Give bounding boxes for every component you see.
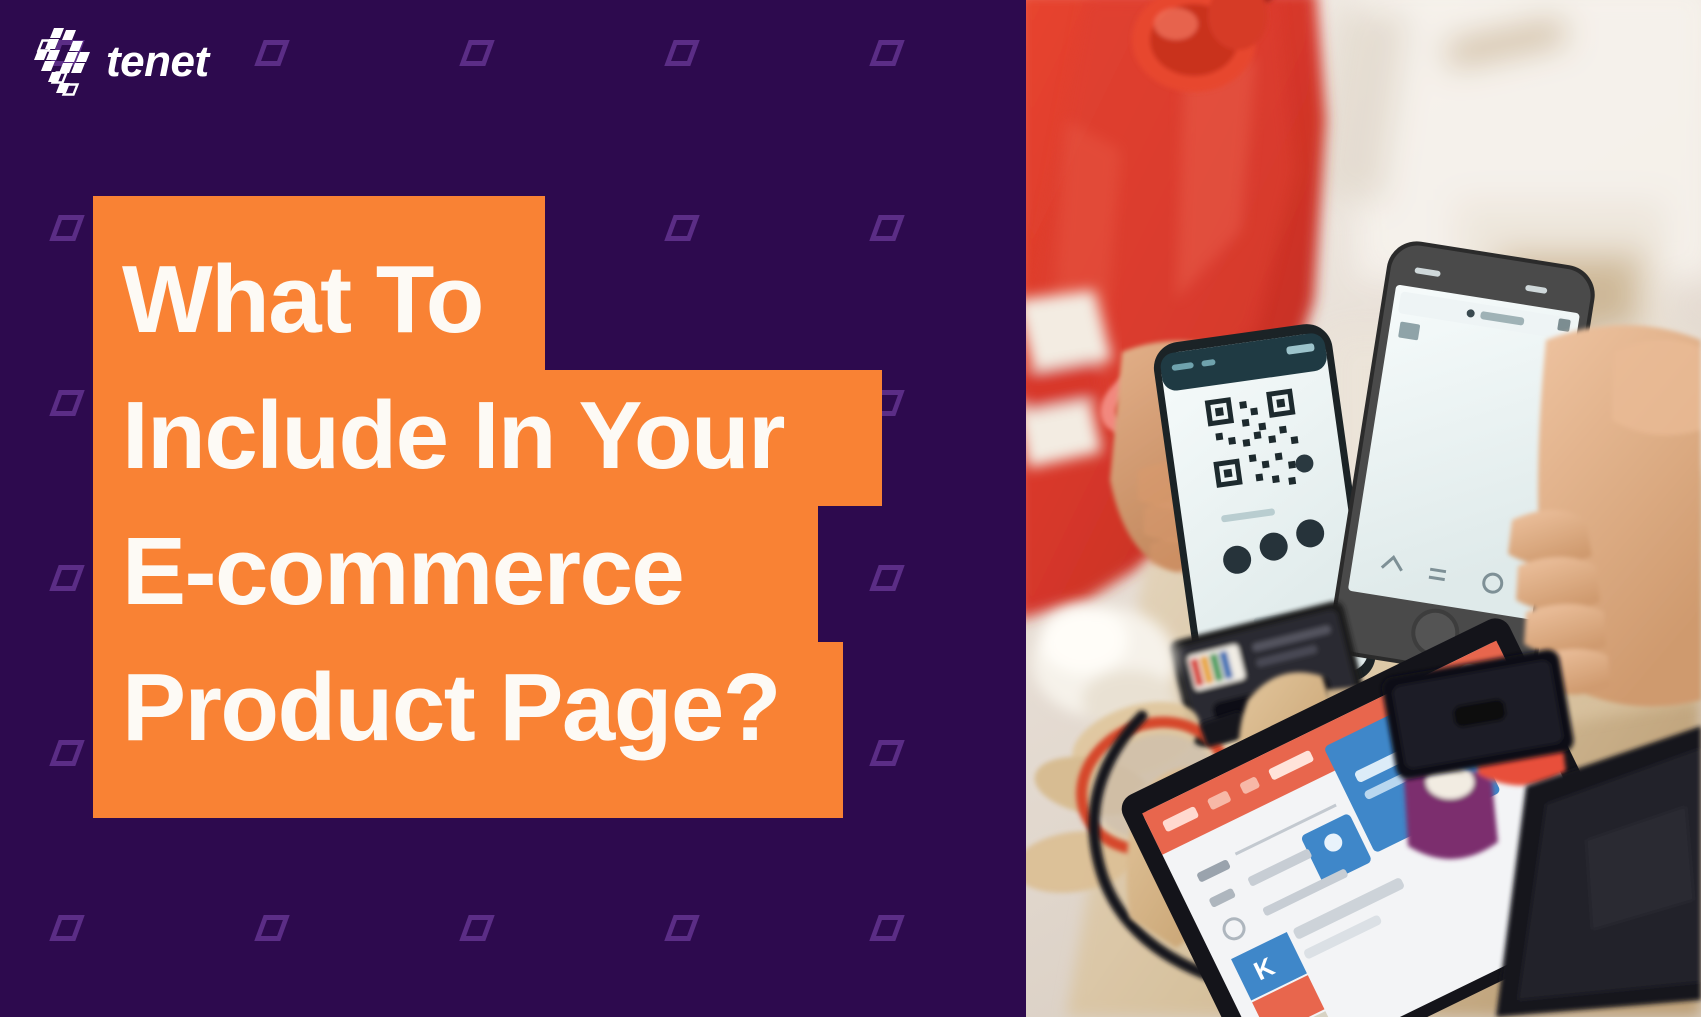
rhombus-outline-icon	[49, 390, 84, 416]
hero-photo: K	[1026, 0, 1701, 1017]
headline-line-2: Include In Your	[93, 370, 882, 506]
headline-line-3: E-commerce	[93, 506, 818, 642]
rhombus-outline-icon	[869, 740, 904, 766]
rhombus-outline-icon	[49, 740, 84, 766]
page-title: What To Include In Your E-commerce Produ…	[93, 196, 853, 818]
rhombus-outline-icon	[664, 40, 699, 66]
rhombus-outline-icon	[49, 915, 84, 941]
rhombus-outline-icon	[49, 565, 84, 591]
rhombus-outline-icon	[869, 215, 904, 241]
brand-logo[interactable]: tenet	[34, 28, 209, 96]
social-card: tenet What To Include In Your E-commerce…	[0, 0, 1701, 1017]
rhombus-outline-icon	[459, 40, 494, 66]
brand-wordmark: tenet	[106, 40, 209, 84]
left-purple-panel: tenet What To Include In Your E-commerce…	[0, 0, 1026, 1017]
rhombus-outline-icon	[459, 915, 494, 941]
rhombus-outline-icon	[869, 40, 904, 66]
rhombus-outline-icon	[254, 915, 289, 941]
rhombus-outline-icon	[664, 915, 699, 941]
headline-line-4: Product Page?	[93, 642, 843, 818]
rhombus-outline-icon	[254, 40, 289, 66]
rhombus-outline-icon	[869, 915, 904, 941]
rhombus-outline-icon	[49, 215, 84, 241]
tenet-diagonal-pixel-mark-icon	[34, 28, 92, 96]
rhombus-outline-icon	[869, 565, 904, 591]
hero-photo-illustration: K	[1026, 0, 1701, 1017]
headline-line-1: What To	[93, 196, 545, 370]
